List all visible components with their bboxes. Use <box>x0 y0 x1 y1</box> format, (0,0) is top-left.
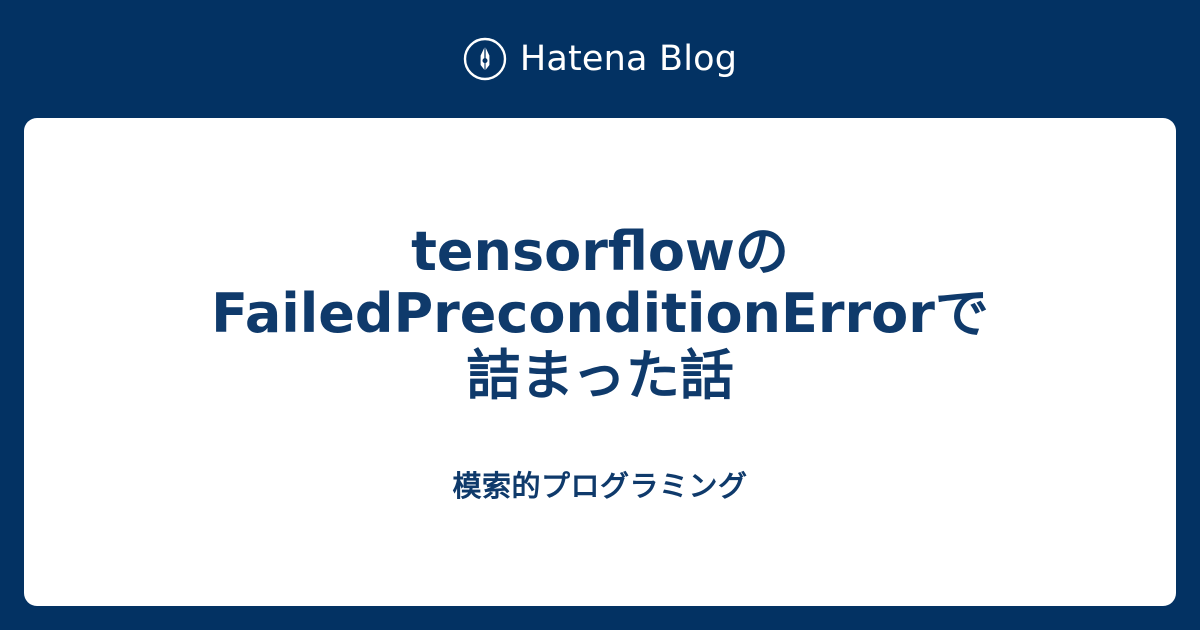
entry-title-line-3: 詰まった話 <box>100 345 1100 407</box>
entry-card: tensorflowの FailedPreconditionErrorで 詰まっ… <box>24 118 1176 606</box>
brand-header: Hatena Blog <box>0 0 1200 118</box>
hatena-blog-og-card: Hatena Blog tensorflowの FailedPreconditi… <box>0 0 1200 630</box>
entry-title-line-1: tensorflowの <box>100 221 1100 283</box>
entry-title-line-2: FailedPreconditionErrorで <box>100 283 1100 345</box>
blog-subtitle: 模索的プログラミング <box>452 469 747 504</box>
hatena-pen-nib-circle-icon <box>463 37 507 81</box>
brand-name: Hatena Blog <box>520 42 737 77</box>
entry-title: tensorflowの FailedPreconditionErrorで 詰まっ… <box>100 221 1100 407</box>
